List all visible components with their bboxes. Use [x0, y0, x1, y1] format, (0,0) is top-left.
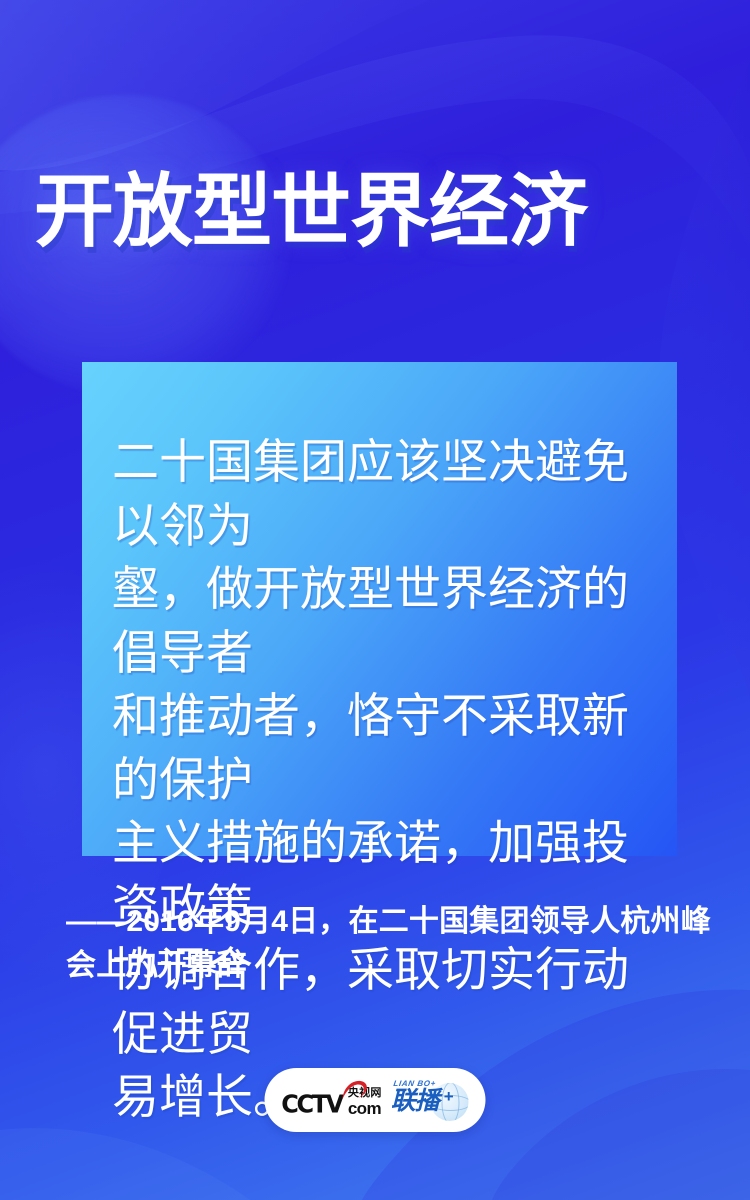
- quote-attribution: ——2016年9月4日，在二十国集团领导人杭州峰会上的开幕辞: [66, 900, 726, 988]
- quote-line: 二十国集团应该坚决避免以邻为: [112, 430, 672, 557]
- page-title: 开放型世界经济: [34, 166, 724, 258]
- quote-line: 和推动者，恪守不采取新的保护: [112, 684, 672, 811]
- quote-line: 壑，做开放型世界经济的倡导者: [112, 557, 672, 684]
- cctv-swoosh-icon: [340, 1078, 368, 1102]
- poster-canvas: 开放型世界经济 二十国集团应该坚决避免以邻为 壑，做开放型世界经济的倡导者 和推…: [0, 0, 750, 1200]
- cctv-logo: CCTV 央视网 com: [281, 1083, 381, 1117]
- lianbo-logo: LIAN BO+ 联播 +: [391, 1079, 469, 1121]
- brand-logo-pill: CCTV 央视网 com LIAN BO+ 联播 +: [265, 1068, 486, 1132]
- lianbo-plus-label: +: [444, 1087, 454, 1107]
- lianbo-chinese-label: 联播: [391, 1088, 439, 1115]
- cctv-com-label: com: [348, 1100, 382, 1117]
- quote-text: 二十国集团应该坚决避免以邻为 壑，做开放型世界经济的倡导者 和推动者，恪守不采取…: [112, 430, 672, 1129]
- cctv-wordmark: CCTV: [281, 1090, 342, 1117]
